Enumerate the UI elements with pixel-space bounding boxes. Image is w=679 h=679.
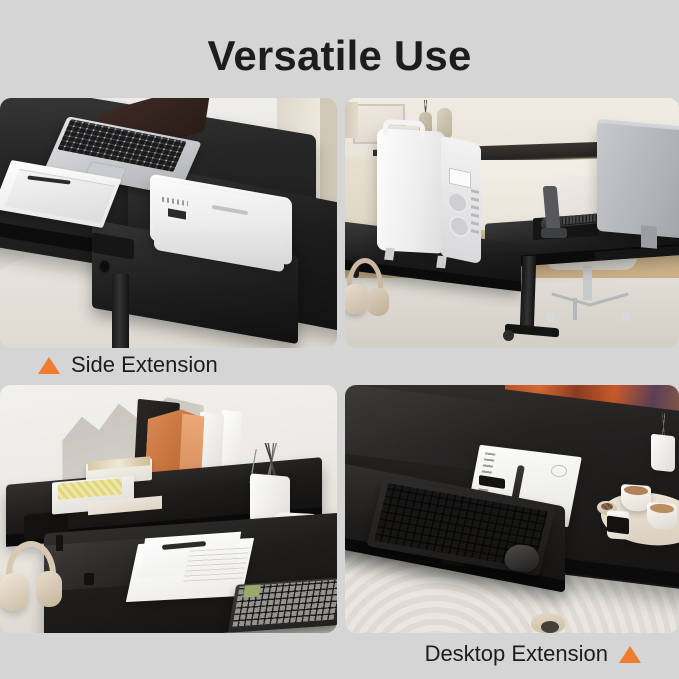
chair-wheel (621, 312, 631, 322)
pc-tower-foot (384, 248, 395, 261)
pc-tower-ports (471, 189, 479, 237)
monitor-arm-base (541, 228, 567, 238)
headphone-earcup-right (36, 571, 62, 607)
headphone-earcup-left (0, 573, 28, 611)
adjust-knob-icon (100, 261, 109, 272)
chair-wheel (545, 312, 555, 322)
desk-caster-wheel (541, 621, 559, 633)
panel-side-extension-printer (0, 98, 337, 348)
desk-caster (503, 330, 514, 341)
caption-side-extension: Side Extension (38, 352, 218, 378)
desk-leg (520, 256, 537, 334)
pen-cup (651, 434, 675, 473)
tray-mount-clip (607, 515, 629, 534)
desk-leg (112, 274, 129, 348)
scene-bottom-right (345, 385, 679, 633)
pc-tower-handle (383, 119, 425, 137)
adjust-knob-icon (84, 573, 94, 585)
triangle-up-icon (38, 357, 60, 374)
caption-side-extension-label: Side Extension (71, 352, 218, 378)
panel-desktop-extension-keyboard-tray (345, 385, 679, 633)
office-chair-post (583, 266, 592, 300)
triangle-up-icon (619, 646, 641, 663)
chair-spoke (573, 298, 577, 320)
panel-side-extension-pc-tower (345, 98, 679, 348)
panel-desktop-extension-organizers (0, 385, 337, 633)
scene-top-right (345, 98, 679, 348)
page-title: Versatile Use (0, 30, 679, 82)
keyboard-accent-keys (243, 584, 261, 597)
headphone-hook (56, 535, 63, 551)
pc-tower-body (377, 128, 445, 254)
scene-bottom-left (0, 385, 337, 633)
scene-top-left (0, 98, 337, 348)
paper-ruled-lines (182, 547, 249, 584)
caption-desktop-extension-label: Desktop Extension (425, 641, 608, 667)
monitor-back (597, 123, 679, 241)
pc-tower-foot (436, 256, 447, 269)
headphone-earcup-right (367, 288, 389, 316)
caption-desktop-extension: Desktop Extension (425, 641, 641, 667)
headphone-earcup-left (345, 284, 367, 314)
wall-column (345, 102, 358, 138)
snack-bowl-contents (601, 503, 613, 510)
monitor-stand (641, 225, 657, 248)
